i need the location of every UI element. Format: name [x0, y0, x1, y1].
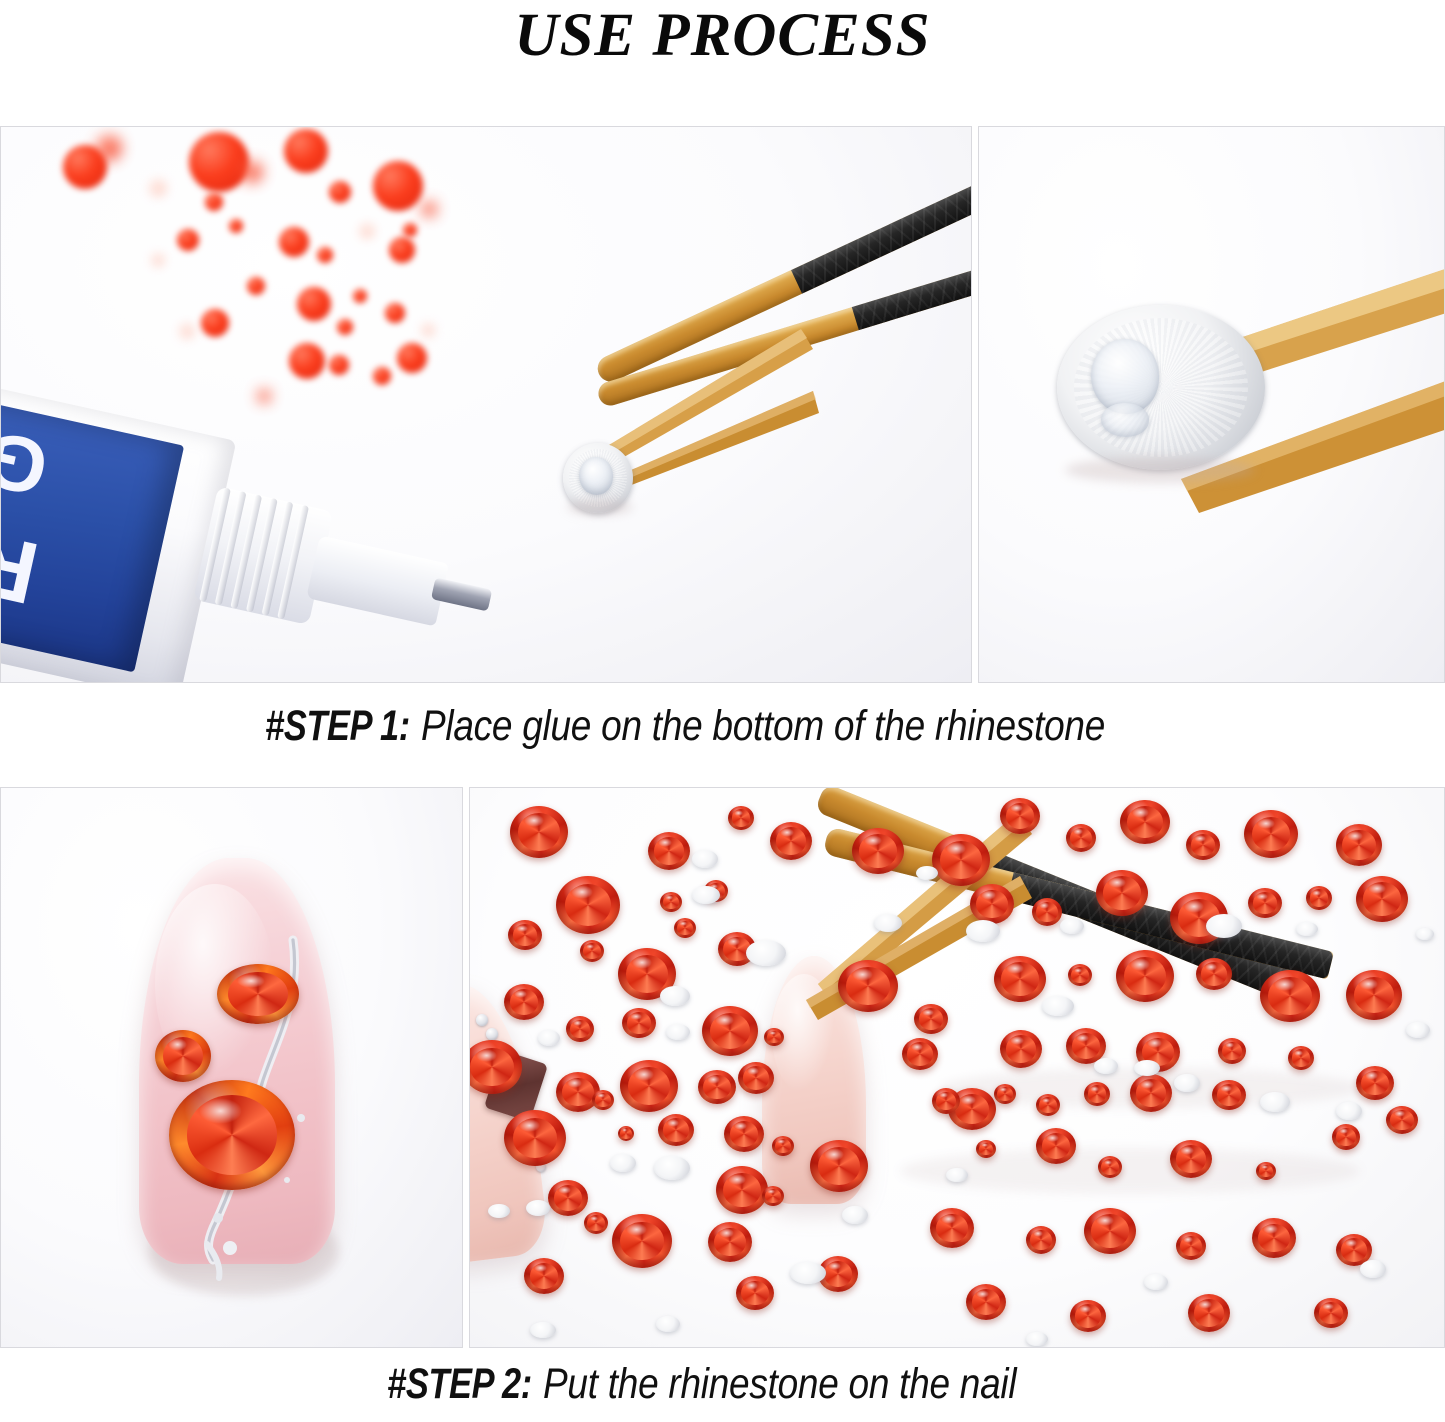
glue-drop-reflection: [1101, 403, 1149, 437]
orange-rhinestone-large: [169, 1080, 295, 1190]
orange-rhinestone-small: [155, 1030, 211, 1082]
step-2-label: #STEP 2:: [388, 1356, 533, 1412]
glue-applied-to-rhinestone-photo: GL RH: [0, 126, 972, 683]
silver-chrome-lines: [1, 788, 463, 1348]
use-process-infographic: USE PROCESS: [0, 0, 1445, 1412]
rhinestones-and-nail-photo: [469, 787, 1445, 1348]
bottle-neck: [193, 486, 333, 625]
decorated-nail-photo: [0, 787, 463, 1348]
rhinestone-back: [1057, 305, 1265, 470]
step-1-label: #STEP 1:: [265, 695, 410, 757]
step-1-caption: #STEP 1:Place glue on the bottom of the …: [0, 695, 1445, 757]
bottle-label-line-2: RH: [0, 502, 46, 620]
page-title: USE PROCESS: [0, 2, 1445, 70]
glue-drop: [579, 457, 613, 495]
orange-rhinestone-top: [217, 964, 299, 1024]
rhinestone-in-tweezers: [838, 960, 898, 1012]
step-1-image-row: GL RH: [0, 126, 1445, 683]
step-2-caption: #STEP 2:Put the rhinestone on the nail: [0, 1356, 1445, 1412]
step-2-text: Put the rhinestone on the nail: [543, 1356, 1016, 1412]
bottle-spout: [306, 535, 449, 626]
rhinestone-closeup-photo: [978, 126, 1445, 683]
bottle-label-line-1: GL: [0, 408, 55, 510]
step-2-image-row: [0, 787, 1445, 1348]
step-1-text: Place glue on the bottom of the rhinesto…: [421, 695, 1105, 757]
